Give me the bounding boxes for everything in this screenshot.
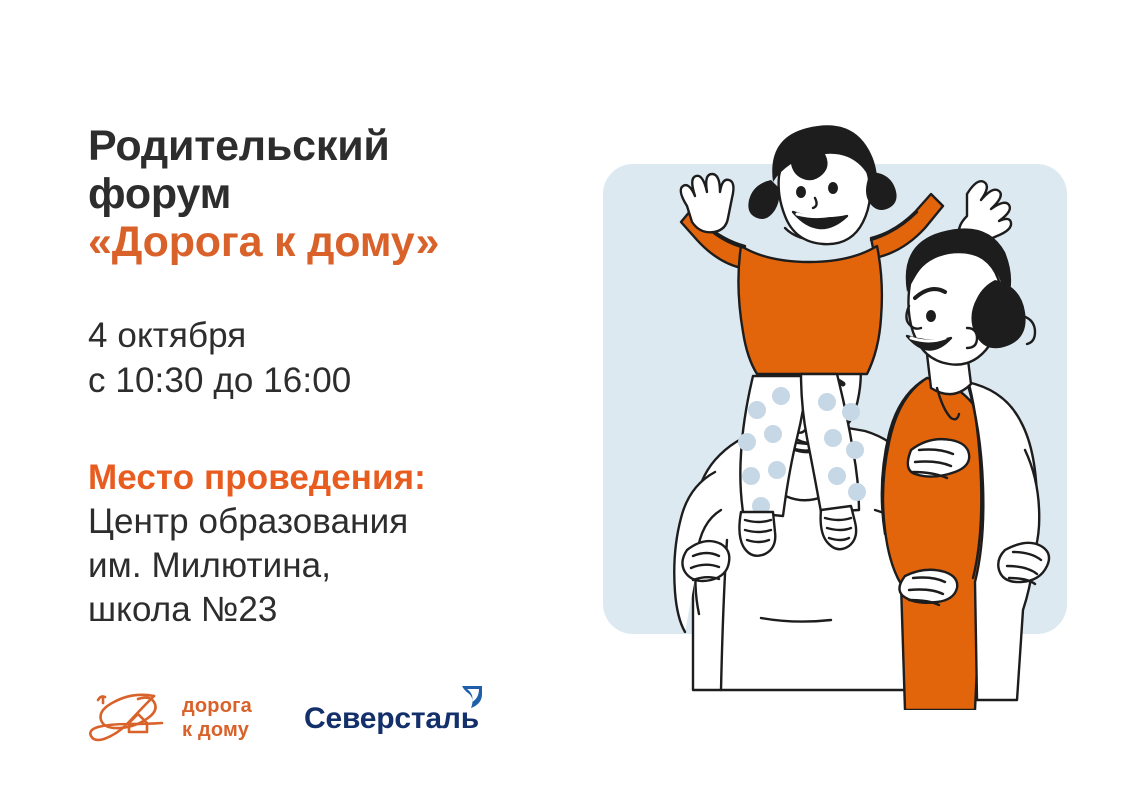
severstal-wordmark: Северсталь	[304, 704, 479, 734]
venue-line-3: школа №23	[88, 588, 558, 632]
logo-row: дорога к дому Северсталь	[88, 688, 479, 750]
title-line-3-accent: «Дорога к дому»	[88, 218, 558, 266]
venue-heading: Место проведения:	[88, 456, 558, 500]
doroga-k-domu-logo: дорога к дому	[88, 688, 252, 750]
family-illustration	[575, 120, 1095, 710]
text-column: Родительский форум «Дорога к дому» 4 окт…	[88, 122, 558, 632]
severstal-check-icon	[459, 684, 485, 710]
poster-canvas: Родительский форум «Дорога к дому» 4 окт…	[0, 0, 1123, 793]
poster-title: Родительский форум «Дорога к дому»	[88, 122, 558, 266]
title-line-2: форум	[88, 170, 558, 218]
severstal-logo: Северсталь	[304, 704, 479, 734]
event-date: 4 октября	[88, 314, 558, 359]
doroga-line-2: к дому	[182, 719, 252, 743]
family-illustration-svg	[575, 120, 1095, 710]
venue-line-2: им. Милютина,	[88, 544, 558, 588]
doroga-k-domu-wordmark: дорога к дому	[182, 695, 252, 742]
event-venue: Место проведения: Центр образования им. …	[88, 456, 558, 632]
event-time: с 10:30 до 16:00	[88, 359, 558, 404]
venue-line-1: Центр образования	[88, 500, 558, 544]
doroga-line-1: дорога	[182, 695, 252, 719]
doroga-k-domu-mark-icon	[88, 688, 172, 750]
event-date-time: 4 октября с 10:30 до 16:00	[88, 314, 558, 404]
title-line-1: Родительский	[88, 122, 558, 170]
